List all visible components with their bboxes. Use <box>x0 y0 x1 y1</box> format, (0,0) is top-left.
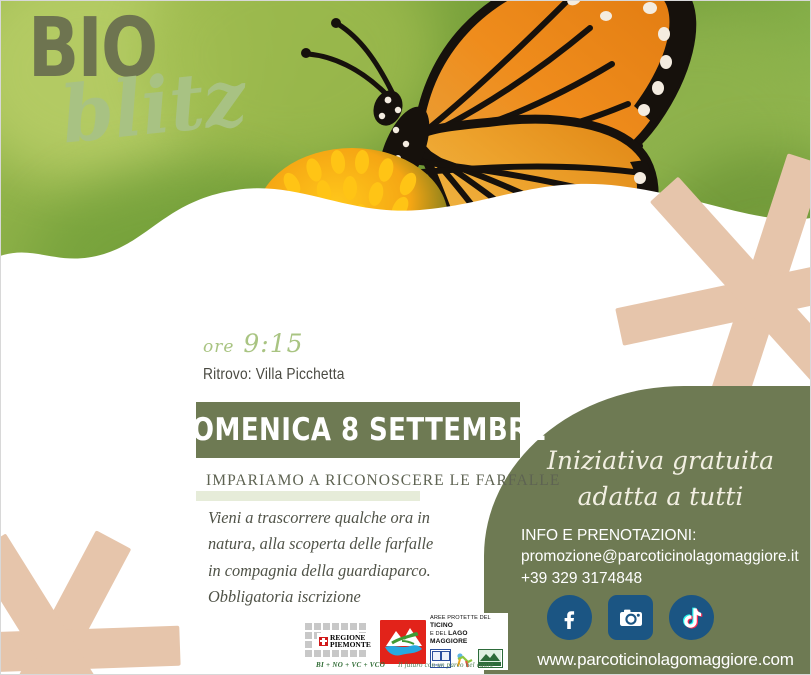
asterisk-decoration-bottom-left <box>0 545 180 675</box>
aree-line-1: AREE PROTETTE DEL <box>430 615 491 621</box>
facebook-icon[interactable] <box>547 595 592 640</box>
contact-email[interactable]: promozione@parcoticinolagomaggiore.it <box>521 546 811 567</box>
logo-tagline-right: Il futuro con un parco nel cuore <box>398 661 493 669</box>
instagram-icon[interactable] <box>608 595 653 640</box>
contact-phone[interactable]: +39 329 3174848 <box>521 568 811 589</box>
event-description: Vieni a trascorrere qualche ora in natur… <box>208 505 496 610</box>
promo-script-line-2: adatta a tutti <box>518 479 803 515</box>
event-time-value: 9:15 <box>243 329 303 358</box>
event-date-text: DOMENICA 8 SETTEMBRE <box>170 412 547 448</box>
contact-heading: INFO E PRENOTAZIONI: <box>521 525 811 546</box>
website-url[interactable]: www.parcoticinolagomaggiore.com <box>520 650 811 670</box>
regione-piemonte-wordmark: REGIONE PIEMONTE <box>317 633 373 651</box>
regione-line-2: PIEMONTE <box>330 641 371 649</box>
description-line: Obbligatoria iscrizione <box>208 584 496 610</box>
contact-block: INFO E PRENOTAZIONI: promozione@parcotic… <box>521 525 811 589</box>
parco-mountain-logo <box>380 620 426 664</box>
aree-line-2: E DEL <box>430 631 446 637</box>
description-line: natura, alla scoperta delle farfalle <box>208 531 496 557</box>
aree-bold-1: TICINO <box>430 622 453 629</box>
subtitle-underline <box>196 491 420 501</box>
event-meeting-point: Ritrovo: Villa Picchetta <box>203 366 345 384</box>
poster-root: BIO blitz ore 9:15 Ritrovo: Villa Picche… <box>0 0 811 675</box>
description-line: in compagnia della guardiaparco. <box>208 558 496 584</box>
regione-piemonte-logo: REGIONE PIEMONTE <box>305 623 377 661</box>
tiktok-icon[interactable] <box>669 595 714 640</box>
piemonte-cross-icon <box>319 637 328 646</box>
poster-title-blitz: blitz <box>58 59 250 156</box>
event-date-band: DOMENICA 8 SETTEMBRE <box>196 402 520 458</box>
promo-script-text: Iniziativa gratuita adatta a tutti <box>518 443 803 514</box>
logo-tagline-left: BI + NO + VC + VCO <box>316 661 385 669</box>
aree-protette-wordmark: AREE PROTETTE DEL TICINO E DEL LAGO MAGG… <box>430 615 506 647</box>
event-time: ore 9:15 <box>203 329 304 358</box>
event-time-label: ore <box>203 337 234 357</box>
event-subtitle: IMPARIAMO A RICONOSCERE LE FARFALLE <box>206 472 560 490</box>
description-line: Vieni a trascorrere qualche ora in <box>208 505 496 531</box>
promo-script-line-1: Iniziativa gratuita <box>518 443 803 479</box>
social-links <box>547 595 714 640</box>
